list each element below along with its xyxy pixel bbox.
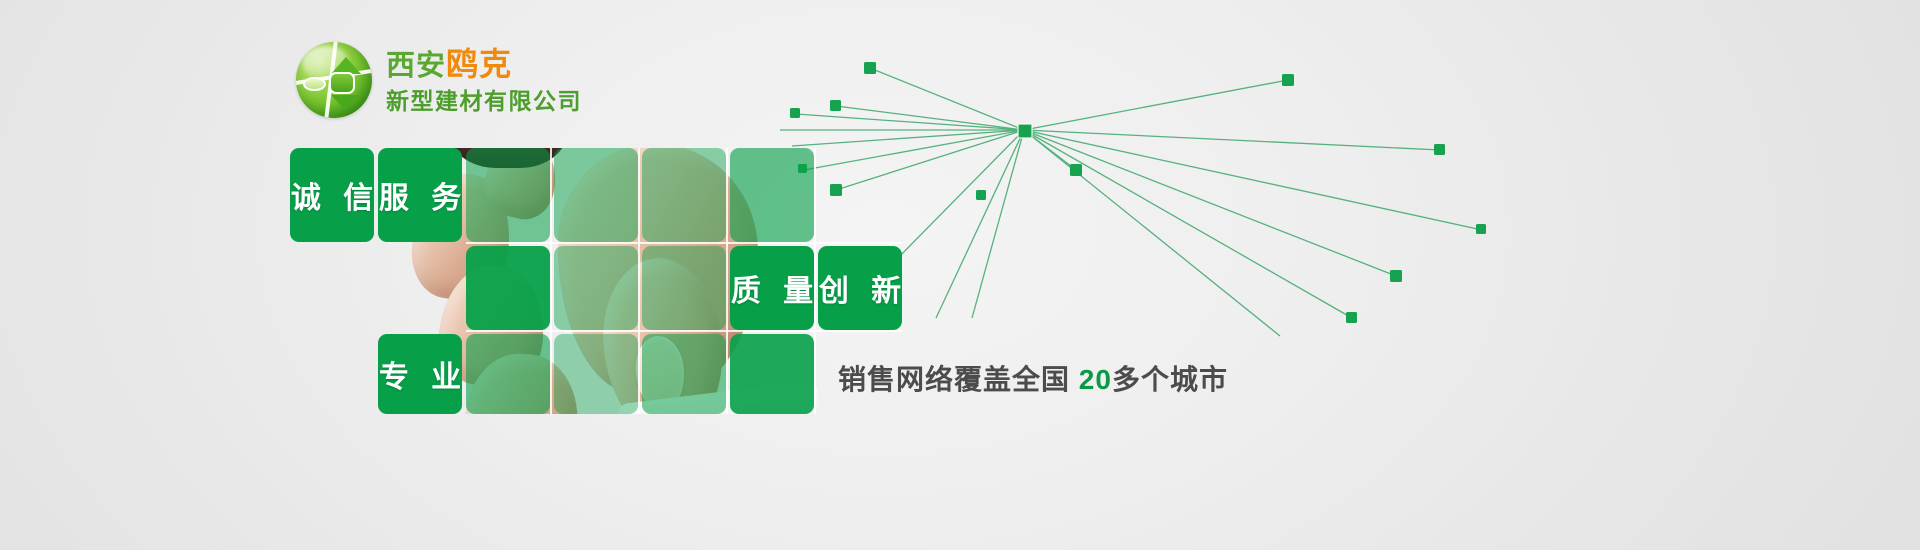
tile-label-service: 服 务 [378,148,462,242]
tile-r1c2 [466,246,550,330]
tile-r1c3 [554,246,638,330]
tile-r0c4 [642,148,726,242]
logo-text: 西安鸥克 新型建材有限公司 [386,48,582,113]
tagline-trail: 多个城市 [1112,364,1228,395]
tagline-lead: 销售网络覆盖全国 [838,364,1070,395]
company-name-prefix: 西安 [386,50,446,82]
tile-label-integrity: 诚 信 [290,148,374,242]
tagline-highlight: 20 [1079,364,1112,395]
company-logo[interactable]: 西安鸥克 新型建材有限公司 [296,42,582,118]
tile-r2c5 [730,334,814,414]
tile-label-profession: 专 业 [378,334,462,414]
globe-leaf-logo-icon [296,42,372,118]
sales-network-tagline: 销售网络覆盖全国 20多个城市 [838,358,1228,398]
tile-label-innovation: 创 新 [818,246,902,330]
tile-r0c3 [554,148,638,242]
promo-banner: 西安鸥克 新型建材有限公司 [0,0,1920,550]
tile-r2c3 [554,334,638,414]
tile-r1c4 [642,246,726,330]
company-subtitle: 新型建材有限公司 [386,90,582,113]
tile-r0c5 [730,148,814,242]
tile-r2c4 [642,334,726,414]
tile-label-quality: 质 量 [730,246,814,330]
company-name: 西安鸥克 [386,48,582,81]
tile-r2c2 [466,334,550,414]
company-name-main: 鸥克 [446,46,512,82]
value-tile-grid: 诚 信 服 务 质 量 创 新 专 业 [290,148,904,414]
tile-r0c2 [466,148,550,242]
